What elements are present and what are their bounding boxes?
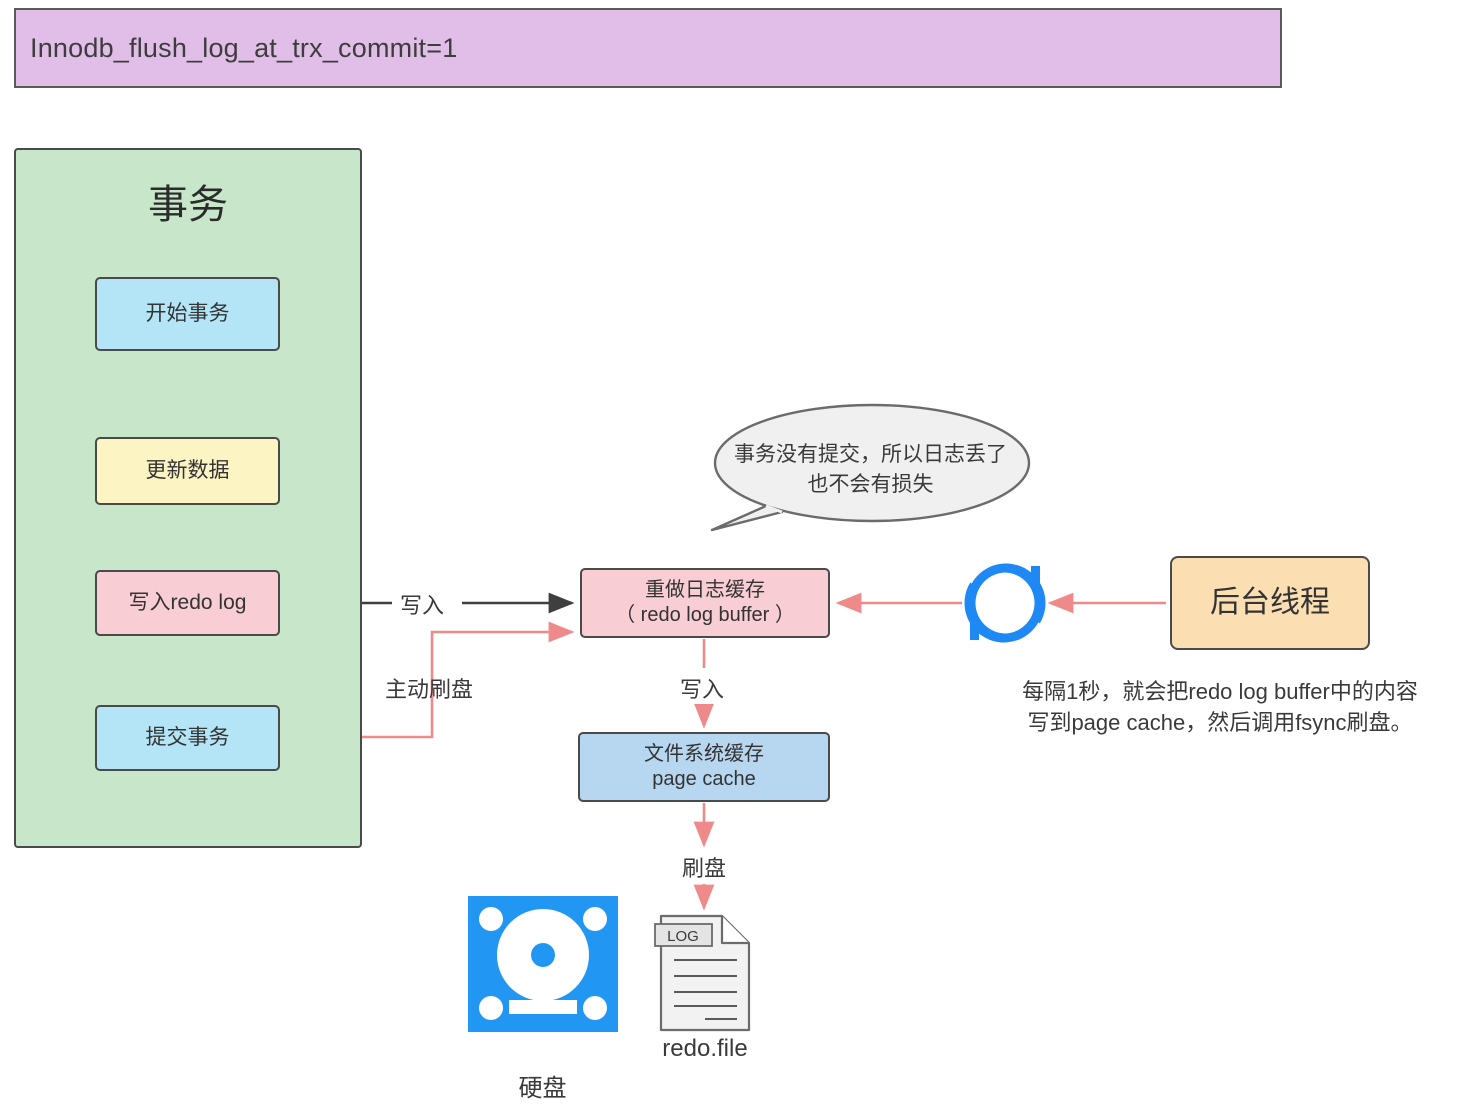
node-start-transaction-label: 开始事务 bbox=[146, 301, 230, 327]
background-thread-caption-line1: 每隔1秒，就会把redo log buffer中的内容 bbox=[975, 676, 1465, 707]
speech-bubble-line1: 事务没有提交，所以日志丢了 bbox=[718, 440, 1023, 470]
speech-bubble-text: 事务没有提交，所以日志丢了 也不会有损失 bbox=[718, 440, 1023, 500]
hard-disk-icon bbox=[468, 896, 618, 1032]
transaction-group-title: 事务 bbox=[14, 172, 362, 230]
node-update-data[interactable]: 更新数据 bbox=[95, 437, 280, 505]
background-thread-caption: 每隔1秒，就会把redo log buffer中的内容 写到page cache… bbox=[975, 676, 1465, 738]
edge-label-flush-to-disk: 刷盘 bbox=[678, 851, 730, 883]
node-page-cache-line1: 文件系统缓存 bbox=[644, 742, 764, 767]
edge-label-write-to-page-cache: 写入 bbox=[676, 672, 728, 704]
node-commit-transaction-label: 提交事务 bbox=[146, 725, 230, 751]
node-page-cache[interactable]: 文件系统缓存 page cache bbox=[578, 732, 830, 802]
node-commit-transaction[interactable]: 提交事务 bbox=[95, 705, 280, 771]
background-thread-caption-line2: 写到page cache，然后调用fsync刷盘。 bbox=[975, 707, 1465, 738]
node-redo-log-buffer-line1: 重做日志缓存 bbox=[645, 578, 765, 603]
speech-bubble-line2: 也不会有损失 bbox=[718, 470, 1023, 500]
node-update-data-label: 更新数据 bbox=[146, 458, 230, 484]
node-page-cache-line2: page cache bbox=[652, 767, 755, 792]
node-redo-log-buffer[interactable]: 重做日志缓存 （ redo log buffer ） bbox=[580, 568, 830, 638]
node-start-transaction[interactable]: 开始事务 bbox=[95, 277, 280, 351]
hard-disk-label: 硬盘 bbox=[455, 1068, 630, 1103]
edge-label-write-to-buffer: 写入 bbox=[396, 588, 448, 620]
config-banner-text: Innodb_flush_log_at_trx_commit=1 bbox=[16, 33, 457, 64]
refresh-icon bbox=[969, 566, 1041, 640]
node-write-redo-log-label: 写入redo log bbox=[129, 590, 247, 616]
log-file-icon: LOG bbox=[655, 916, 749, 1030]
node-background-thread[interactable]: 后台线程 bbox=[1170, 556, 1370, 650]
redo-file-label: redo.file bbox=[620, 1035, 790, 1063]
node-background-thread-label: 后台线程 bbox=[1210, 584, 1330, 622]
config-banner: Innodb_flush_log_at_trx_commit=1 bbox=[14, 8, 1282, 88]
log-file-tag-text: LOG bbox=[667, 928, 699, 945]
node-redo-log-buffer-line2: （ redo log buffer ） bbox=[615, 603, 795, 628]
node-write-redo-log[interactable]: 写入redo log bbox=[95, 570, 280, 636]
edge-label-active-flush: 主动刷盘 bbox=[385, 672, 473, 704]
